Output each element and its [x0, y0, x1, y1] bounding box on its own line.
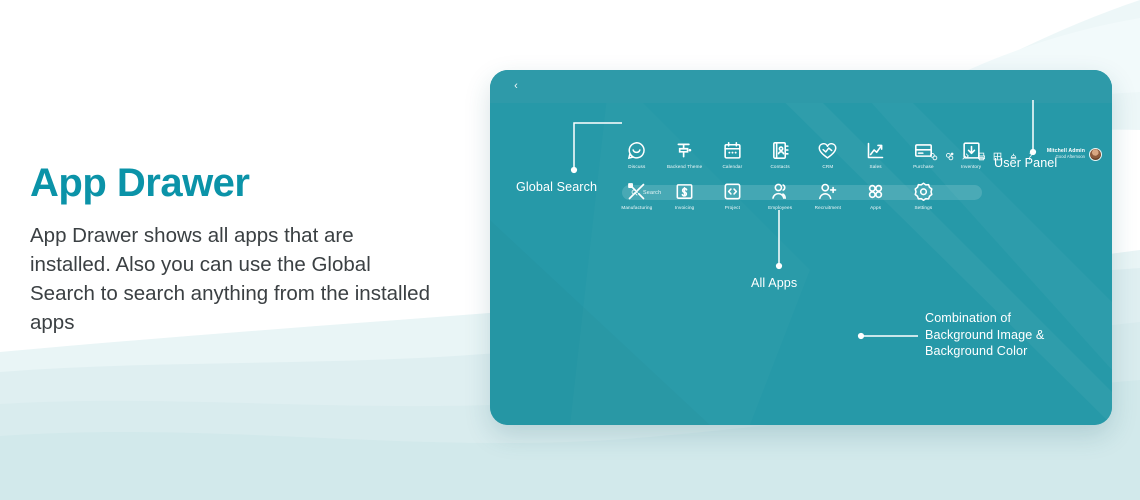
app-label: Discuss	[628, 164, 645, 169]
app-label: Inventory	[961, 164, 981, 169]
app-item-purchase[interactable]: Purchase	[900, 140, 948, 169]
page-description: App Drawer shows all apps that are insta…	[30, 221, 430, 337]
app-grid: Discuss Backend Theme Calendar	[613, 140, 995, 210]
crm-icon	[817, 140, 838, 161]
project-icon	[722, 181, 743, 202]
app-label: Employees	[768, 205, 792, 210]
discuss-icon	[626, 140, 647, 161]
app-label: Settings	[914, 205, 932, 210]
app-label: Project	[725, 205, 740, 210]
app-item-discuss[interactable]: Discuss	[613, 140, 661, 169]
app-label: Purchase	[913, 164, 934, 169]
app-label: Recruitment	[815, 205, 841, 210]
app-item-employees[interactable]: Employees	[756, 181, 804, 210]
chevron-left-icon[interactable]: ‹	[510, 80, 522, 93]
contacts-icon	[770, 140, 791, 161]
app-item-recruitment[interactable]: Recruitment	[804, 181, 852, 210]
employees-icon	[770, 181, 791, 202]
settings-icon	[913, 181, 934, 202]
app-drawer-panel: ‹	[490, 70, 1112, 425]
invoicing-icon	[674, 181, 695, 202]
app-item-inventory[interactable]: Inventory	[947, 140, 995, 169]
app-item-manufacturing[interactable]: Manufacturing	[613, 181, 661, 210]
panel-background-image	[490, 70, 1112, 425]
app-label: Invoicing	[675, 205, 694, 210]
annotation-user-panel: User Panel	[994, 155, 1057, 172]
app-item-contacts[interactable]: Contacts	[756, 140, 804, 169]
avatar[interactable]	[1089, 148, 1102, 161]
backend-theme-icon	[674, 140, 695, 161]
app-label: Apps	[870, 205, 881, 210]
intro-text-block: App Drawer App Drawer shows all apps tha…	[30, 163, 430, 337]
app-item-sales[interactable]: Sales	[852, 140, 900, 169]
annotation-background: Combination of Background Image & Backgr…	[925, 310, 1044, 360]
app-item-calendar[interactable]: Calendar	[709, 140, 757, 169]
panel-topbar	[490, 70, 1112, 103]
app-label: Manufacturing	[621, 205, 652, 210]
app-label: Calendar	[722, 164, 742, 169]
app-label: Backend Theme	[667, 164, 702, 169]
apps-icon	[865, 181, 886, 202]
recruitment-icon	[817, 181, 838, 202]
purchase-icon	[913, 140, 934, 161]
manufacturing-icon	[626, 181, 647, 202]
app-item-project[interactable]: Project	[709, 181, 757, 210]
app-label: Sales	[870, 164, 882, 169]
app-label: CRM	[822, 164, 833, 169]
sales-icon	[865, 140, 886, 161]
app-item-settings[interactable]: Settings	[900, 181, 948, 210]
app-item-invoicing[interactable]: Invoicing	[661, 181, 709, 210]
app-item-crm[interactable]: CRM	[804, 140, 852, 169]
annotation-global-search: Global Search	[516, 179, 597, 196]
annotation-all-apps: All Apps	[751, 275, 797, 292]
app-item-apps[interactable]: Apps	[852, 181, 900, 210]
app-item-backend-theme[interactable]: Backend Theme	[661, 140, 709, 169]
page-title: App Drawer	[30, 163, 430, 203]
calendar-icon	[722, 140, 743, 161]
slide-canvas: App Drawer App Drawer shows all apps tha…	[0, 0, 1140, 500]
inventory-icon	[961, 140, 982, 161]
app-label: Contacts	[770, 164, 789, 169]
